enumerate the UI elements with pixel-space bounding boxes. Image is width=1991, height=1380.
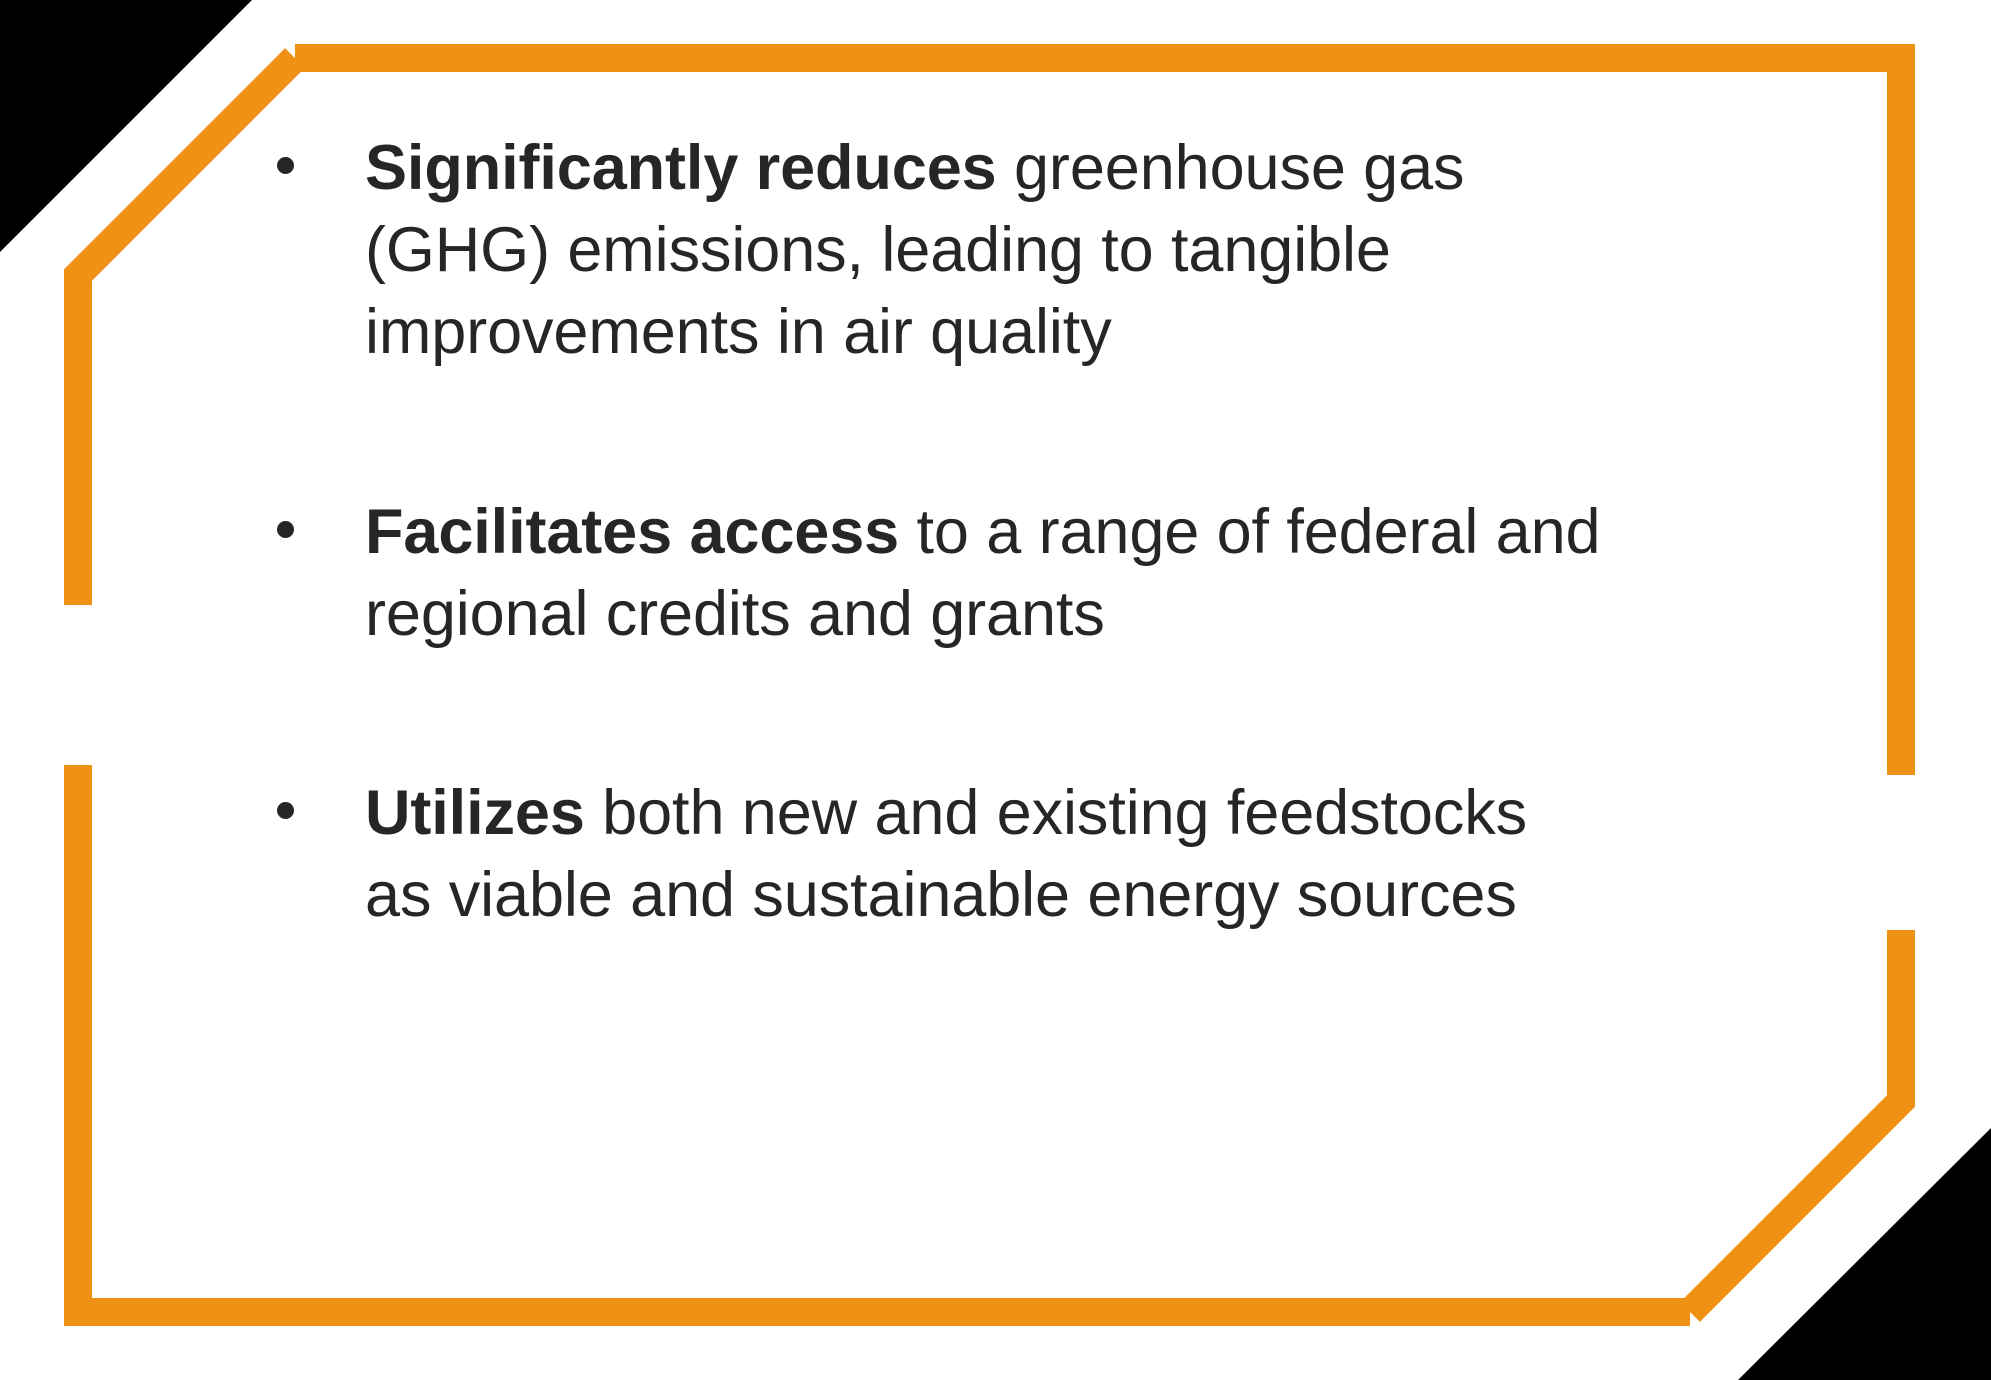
bullet-lead-emphasis: Significantly reduces — [365, 133, 997, 203]
bullet-dot-icon — [277, 157, 294, 174]
slide-canvas: Significantly reduces greenhouse gas (GH… — [0, 0, 1991, 1380]
bullet-dot-icon — [277, 802, 294, 819]
bullet-lead-emphasis: Facilitates access — [365, 497, 899, 567]
callout-content: Significantly reduces greenhouse gas (GH… — [255, 128, 1675, 1248]
bullet-item-credits-grants: Facilitates access to a range of federal… — [255, 492, 1615, 656]
benefits-bullet-list: Significantly reduces greenhouse gas (GH… — [255, 128, 1675, 937]
bullet-dot-icon — [277, 521, 294, 538]
bullet-item-ghg-reduction: Significantly reduces greenhouse gas (GH… — [255, 128, 1530, 374]
bullet-lead-emphasis: Utilizes — [365, 778, 585, 848]
bullet-item-feedstocks: Utilizes both new and existing feedstock… — [255, 773, 1555, 937]
